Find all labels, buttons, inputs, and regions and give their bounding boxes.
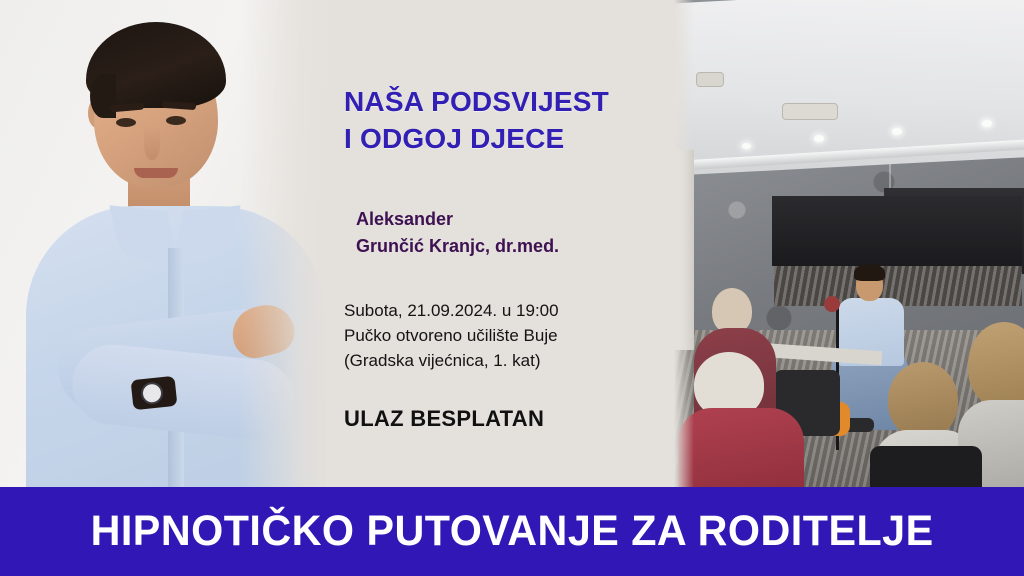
speaker-line-2: Grunčić Kranjc, dr.med. (356, 233, 664, 260)
portrait-edge-fade (240, 0, 330, 487)
audience-head (968, 322, 1024, 408)
scene-front-chair (870, 446, 982, 487)
ceiling-spotlight-icon (814, 135, 824, 142)
audience-body (678, 408, 804, 487)
bottom-banner: HIPNOTIČKO PUTOVANJE ZA RODITELJE (0, 487, 1024, 576)
scene-speaker-hair (854, 264, 885, 281)
speaker-portrait-photo (0, 0, 330, 487)
portrait-eye-left (116, 118, 136, 127)
portrait-eye-right (166, 116, 186, 125)
event-datetime: Subota, 21.09.2024. u 19:00 (344, 299, 664, 324)
page-title: NAŠA PODSVIJEST I ODGOJ DJECE (344, 84, 664, 158)
poster-text-content: NAŠA PODSVIJEST I ODGOJ DJECE Aleksander… (344, 84, 664, 432)
portrait-wristwatch (131, 376, 178, 410)
ceiling-spotlight-icon (742, 143, 751, 149)
speaker-name: Aleksander Grunčić Kranjc, dr.med. (344, 206, 664, 259)
scene-desk-front (772, 196, 1022, 266)
microphone-icon (824, 296, 840, 312)
audience-head (888, 362, 958, 438)
title-line-1: NAŠA PODSVIJEST (344, 84, 664, 121)
ceiling-spotlight-icon (892, 128, 902, 135)
free-entry-note: ULAZ BESPLATAN (344, 406, 664, 432)
scene-edge-fade (674, 0, 694, 487)
portrait-nose (144, 126, 160, 160)
portrait-mouth (134, 168, 178, 178)
ceiling-spotlight-icon (696, 72, 724, 87)
ceiling-spotlight-icon (782, 103, 838, 120)
event-poster: NAŠA PODSVIJEST I ODGOJ DJECE Aleksander… (0, 0, 1024, 576)
event-details: Subota, 21.09.2024. u 19:00 Pučko otvore… (344, 299, 664, 374)
event-venue: Pučko otvoreno učilište Buje (344, 324, 664, 349)
event-venue-detail: (Gradska vijećnica, 1. kat) (344, 349, 664, 374)
speaker-line-1: Aleksander (356, 206, 664, 233)
audience-member (678, 352, 804, 487)
portrait-hair (86, 22, 226, 108)
ceiling-spotlight-icon (982, 120, 992, 127)
banner-title: HIPNOTIČKO PUTOVANJE ZA RODITELJE (90, 507, 933, 556)
title-line-2: I ODGOJ DJECE (344, 121, 664, 158)
lecture-scene-photo (674, 0, 1024, 487)
